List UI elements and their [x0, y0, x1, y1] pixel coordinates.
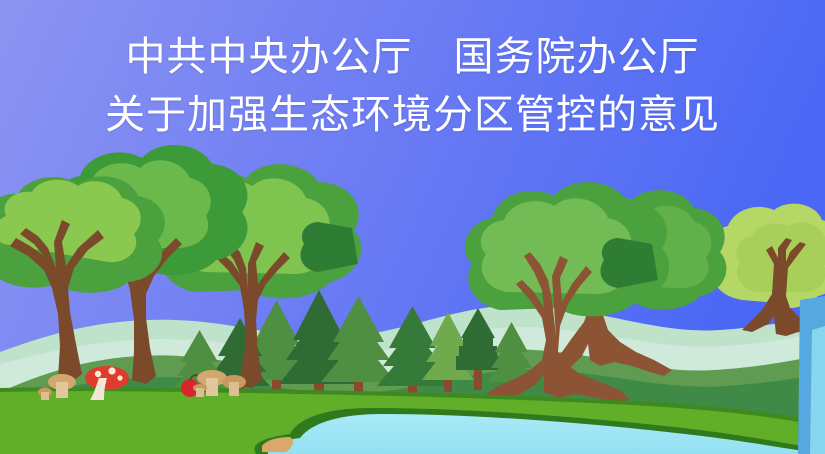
- illustration-scene: [0, 0, 825, 454]
- policy-banner: 中共中央办公厅 国务院办公厅 关于加强生态环境分区管控的意见: [0, 0, 825, 454]
- water-right-edge-light: [810, 326, 825, 454]
